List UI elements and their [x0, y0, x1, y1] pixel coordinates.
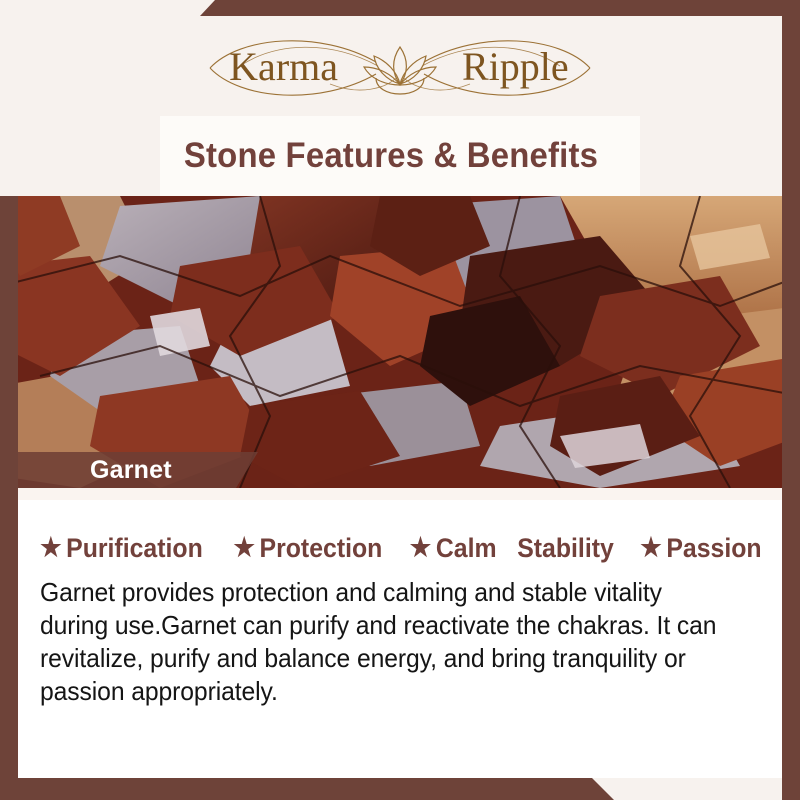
star-icon: ★ — [40, 534, 61, 560]
benefit-label: Calm — [436, 533, 497, 564]
benefits-row: ★ Purification ★ Protection ★ Calm Stabi… — [18, 527, 782, 569]
frame-right-band — [782, 0, 800, 800]
card-top-strip — [18, 488, 782, 500]
stone-photo — [0, 196, 800, 488]
benefit-label: Purification — [66, 533, 203, 564]
brand-logo-svg: Karma Ripple — [180, 22, 620, 114]
frame-bottom-band — [0, 778, 800, 800]
star-icon: ★ — [640, 534, 661, 560]
benefit-calm: ★ Calm — [409, 533, 496, 564]
benefit-purification: ★ Purification — [40, 533, 203, 564]
logo-area: Karma Ripple — [0, 0, 800, 130]
lotus-icon — [364, 47, 436, 94]
benefit-passion: ★ Passion — [640, 533, 761, 564]
star-icon: ★ — [233, 534, 254, 560]
benefit-stability: Stability — [517, 533, 614, 564]
garnet-crystal-cluster-image — [0, 196, 800, 488]
brand-logo: Karma Ripple — [180, 22, 620, 114]
brand-name-right: Ripple — [462, 44, 569, 89]
star-icon: ★ — [409, 534, 430, 560]
frame-left-mask — [0, 0, 18, 196]
benefit-label: Stability — [517, 533, 614, 564]
stone-name: Garnet — [18, 456, 172, 485]
brand-name-left: Karma — [229, 44, 338, 89]
benefit-label: Passion — [666, 533, 761, 564]
stone-name-plate: Garnet — [18, 452, 258, 488]
stone-description: Garnet provides protection and calming a… — [40, 576, 720, 708]
page-title: Stone Features & Benefits — [23, 114, 758, 198]
benefit-protection: ★ Protection — [233, 533, 382, 564]
benefit-label: Protection — [259, 533, 382, 564]
poster-canvas: Karma Ripple Stone Features & Benefits — [0, 0, 800, 800]
